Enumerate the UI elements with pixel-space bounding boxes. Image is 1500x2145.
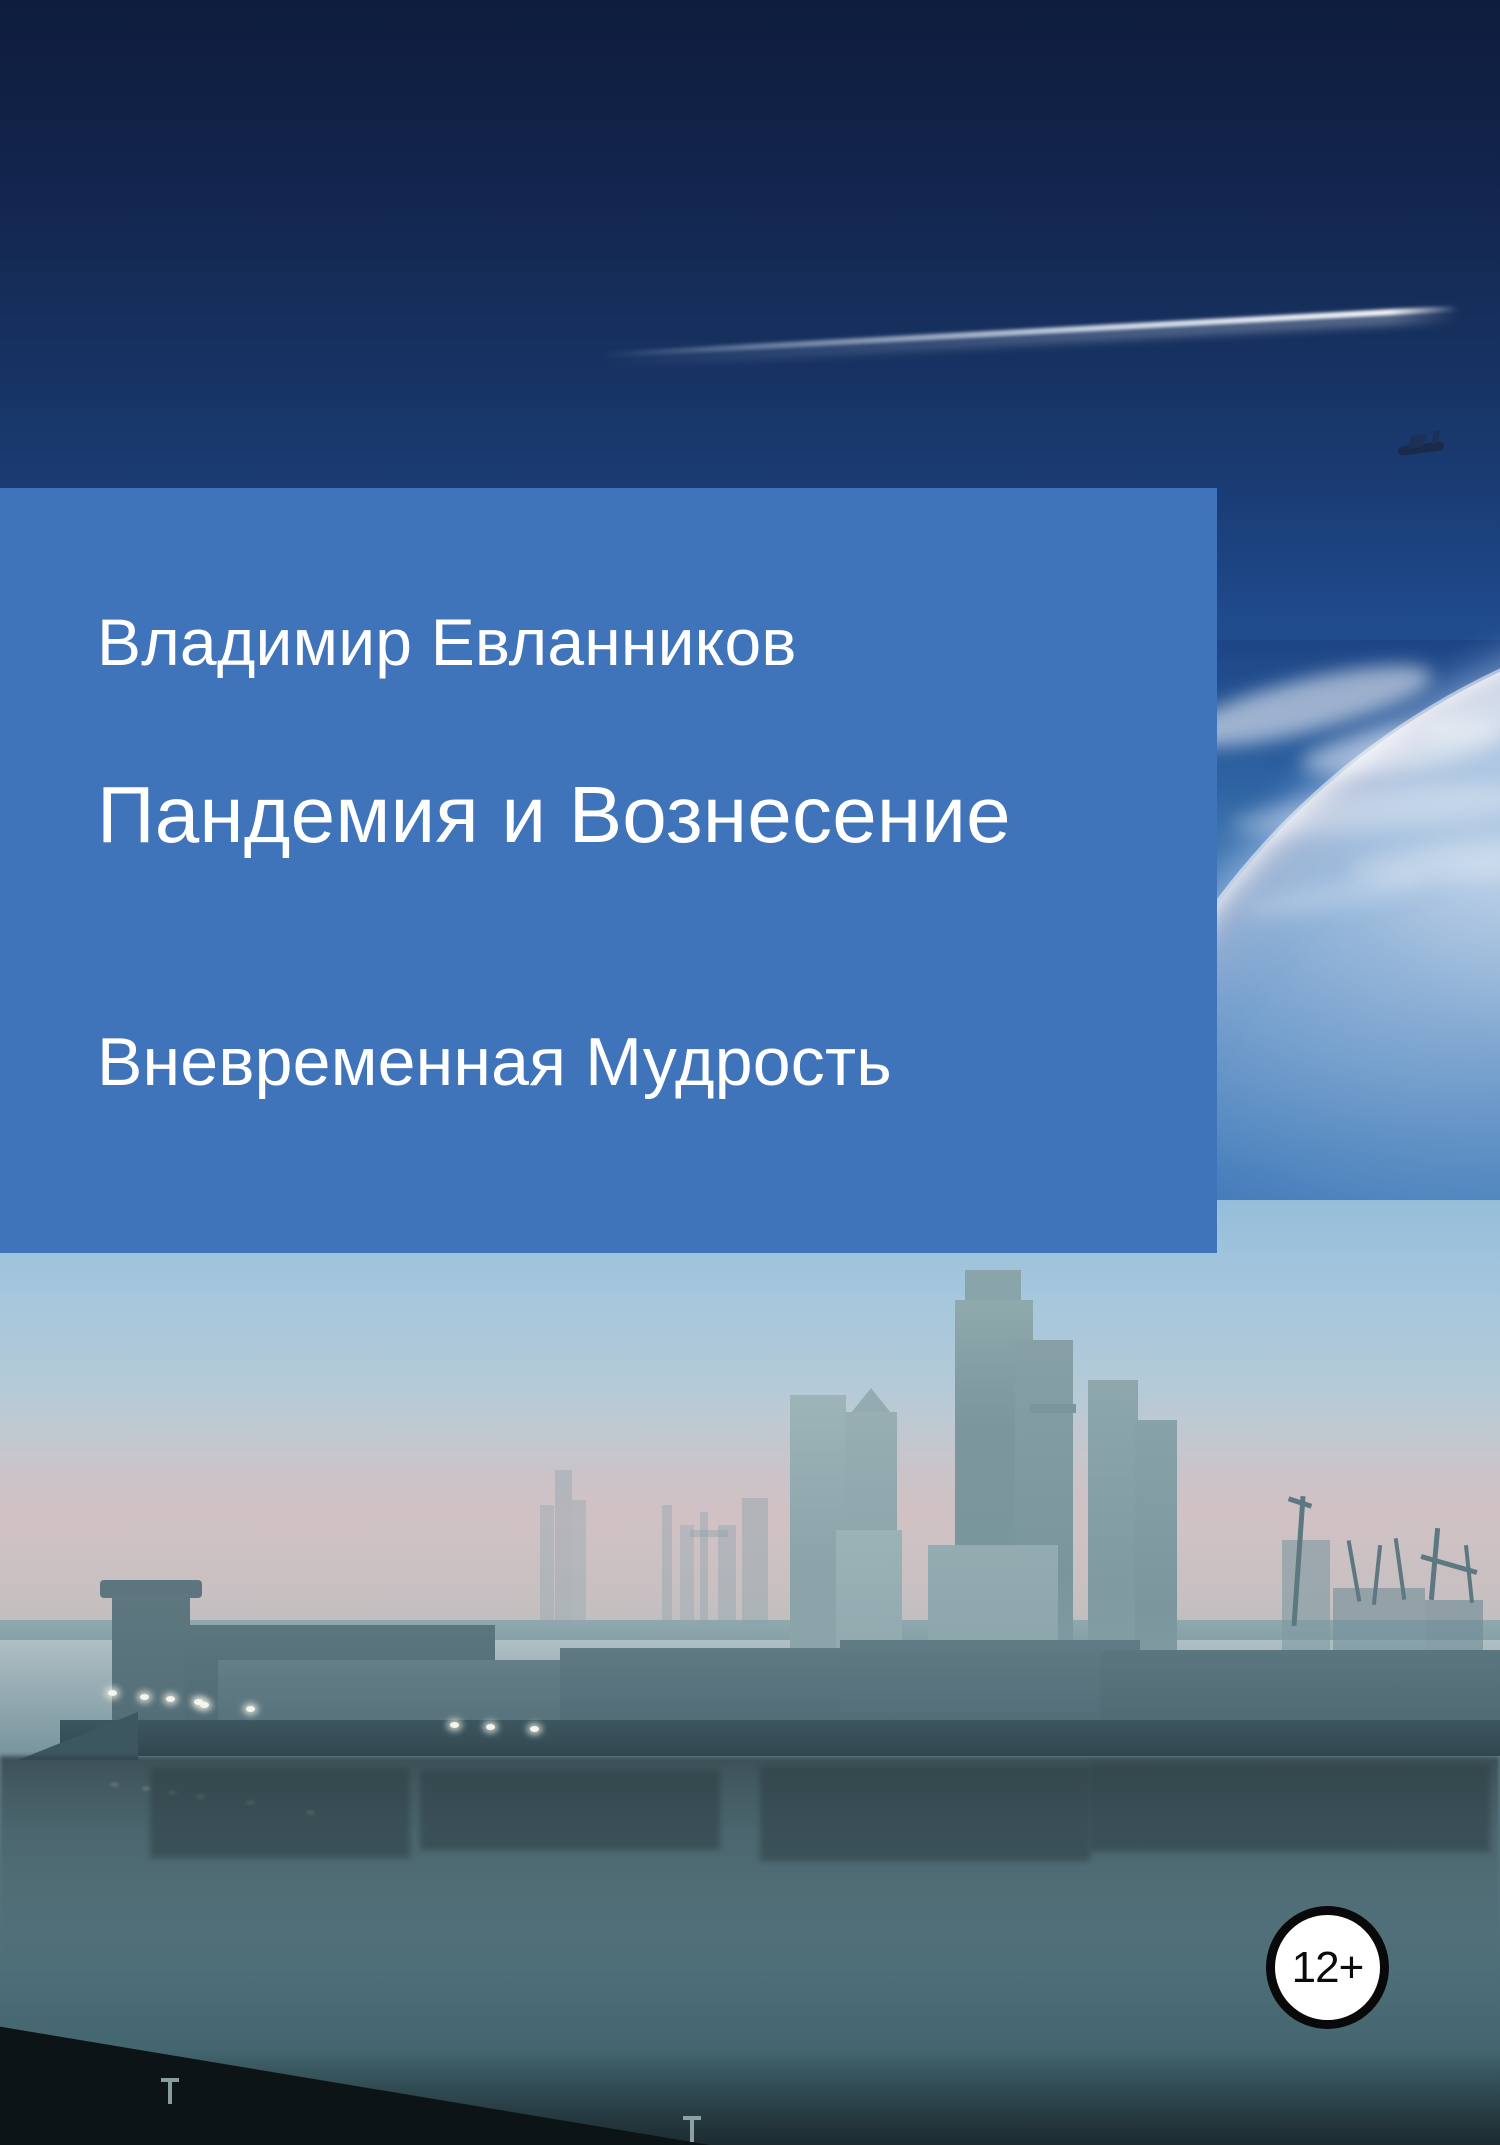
distant-tower (662, 1505, 672, 1625)
building-reflection (1090, 1764, 1490, 1852)
author-name: Владимир Евланников (97, 609, 797, 675)
sky-bridge (1030, 1404, 1076, 1413)
building-reflection (760, 1766, 1090, 1861)
street-light (166, 1696, 175, 1702)
book-cover: Владимир Евланников Пандемия и Вознесени… (0, 0, 1500, 2145)
title-panel (0, 488, 1217, 1253)
embankment-quay (60, 1720, 1500, 1756)
street-light (530, 1726, 539, 1732)
street-light (450, 1722, 459, 1728)
building-reflection (420, 1770, 720, 1850)
street-light (200, 1702, 209, 1708)
street-light (140, 1694, 149, 1700)
age-rating-badge: 12+ (1266, 1906, 1389, 2029)
book-title: Пандемия и Вознесение (97, 775, 1011, 855)
street-light (246, 1706, 255, 1712)
distant-tower (555, 1470, 572, 1625)
waterfront-tower (112, 1594, 190, 1734)
street-light (108, 1690, 117, 1696)
book-subtitle: Вневременная Мудрость (97, 1028, 892, 1096)
distant-tower (540, 1505, 554, 1625)
bank-post (168, 2078, 172, 2104)
street-light (486, 1724, 495, 1730)
distant-tower (700, 1512, 708, 1625)
age-rating-label: 12+ (1292, 1946, 1364, 1990)
distant-tower (742, 1498, 768, 1626)
bank-post (690, 2116, 694, 2142)
distant-tower (680, 1525, 694, 1625)
distant-tower (572, 1500, 586, 1625)
distant-tower (718, 1525, 736, 1625)
building-reflection (150, 1768, 410, 1858)
